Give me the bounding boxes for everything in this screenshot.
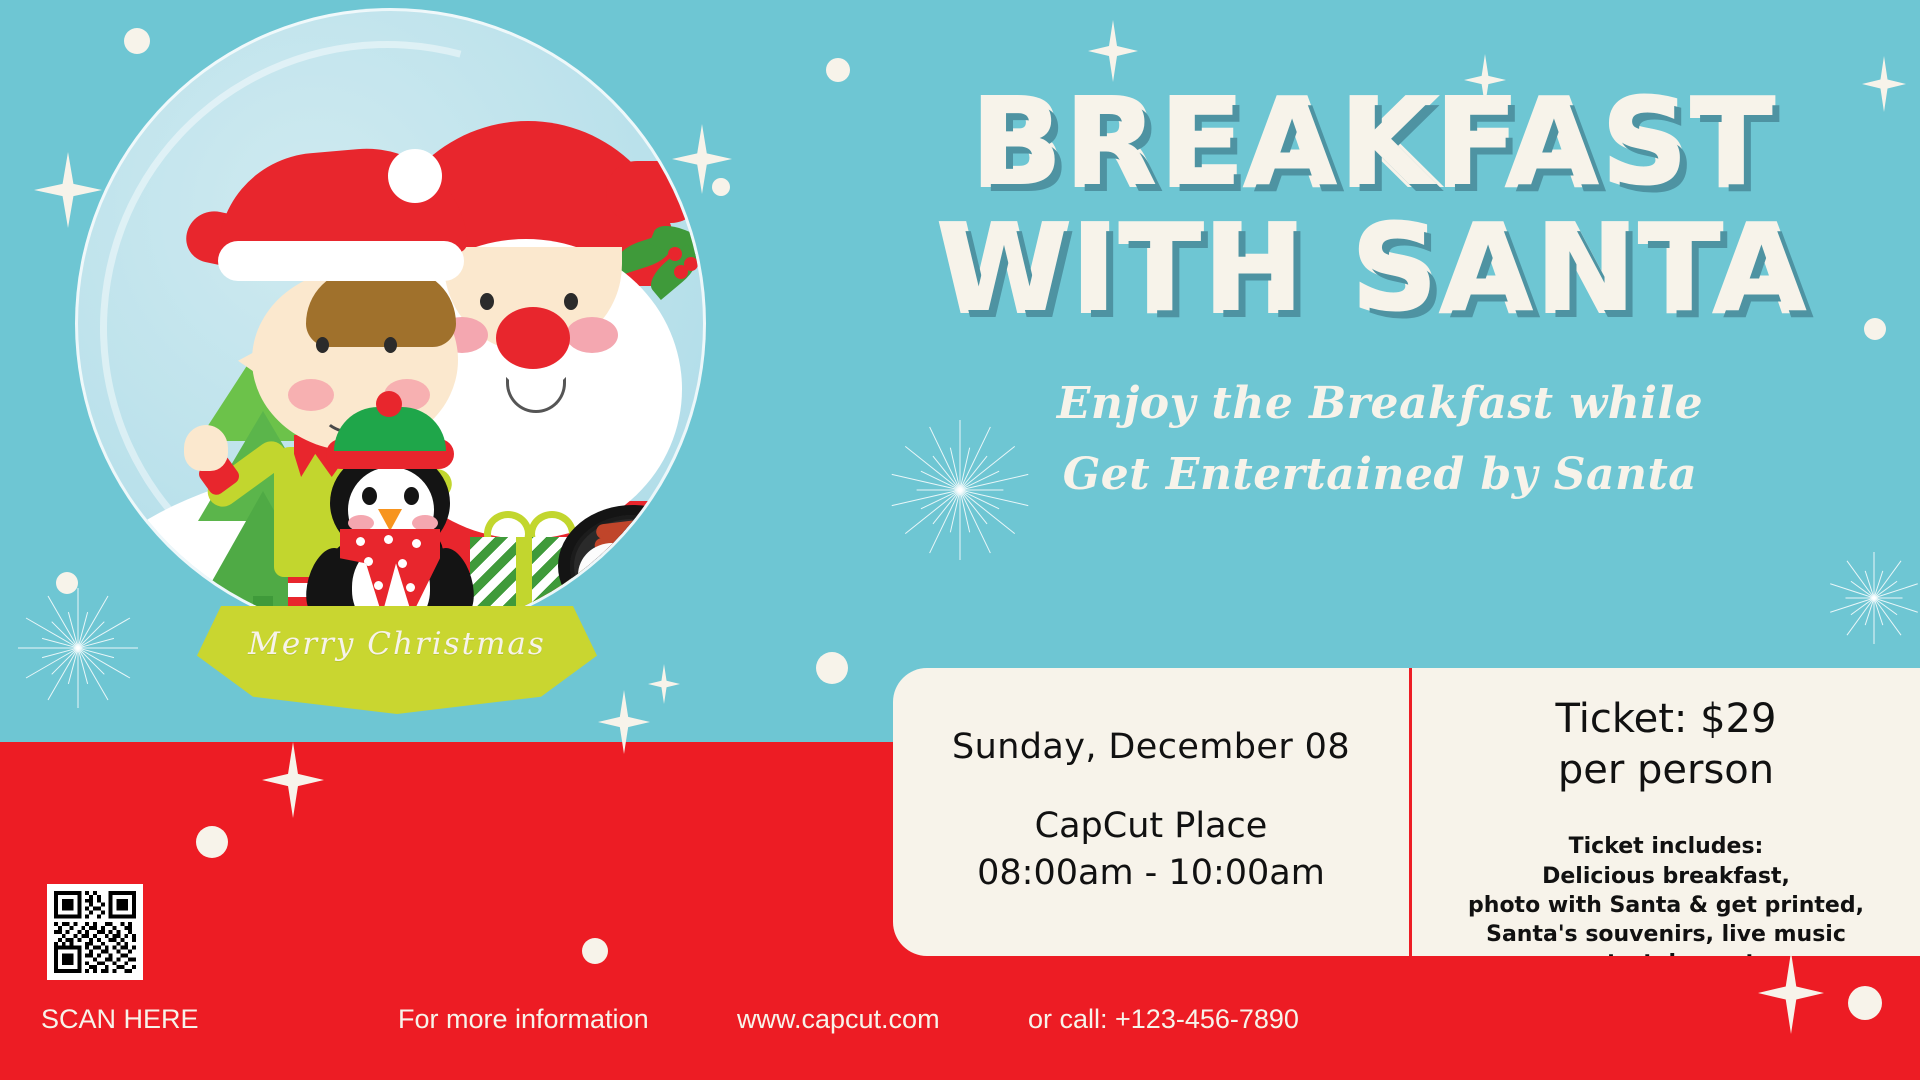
decor-dot	[826, 58, 850, 82]
event-details-card: Sunday, December 08 CapCut Place 08:00am…	[893, 668, 1409, 956]
decor-dot	[582, 938, 608, 964]
decor-dot	[196, 826, 228, 858]
phone-number[interactable]: or call: +123-456-7890	[1028, 1004, 1299, 1035]
includes-item: Santa's souvenirs, live music	[1468, 920, 1864, 949]
snow-globe-illustration: Merry Christmas	[75, 8, 715, 708]
includes-heading: Ticket includes:	[1468, 832, 1864, 861]
ticket-card: Ticket: $29 per person Ticket includes: …	[1412, 668, 1920, 956]
ticket-price: Ticket: $29 per person	[1556, 694, 1777, 796]
flyer-canvas: ❄ ❄ ❄	[0, 0, 1920, 1080]
includes-item: entertainment	[1468, 949, 1864, 956]
globe-base: Merry Christmas	[197, 606, 597, 714]
subtitle-line-1: Enjoy the Breakfast while	[850, 368, 1910, 439]
poster-subtitle: Enjoy the Breakfast while Get Entertaine…	[850, 368, 1910, 511]
info-cards-panel: Sunday, December 08 CapCut Place 08:00am…	[893, 668, 1920, 956]
breakfast-skillet-icon	[558, 499, 706, 639]
ticket-includes-list: Ticket includes: Delicious breakfast, ph…	[1468, 832, 1864, 956]
decor-dot	[816, 652, 848, 684]
globe-glass	[75, 8, 706, 639]
footer-bar: SCAN HERE For more information www.capcu…	[0, 1004, 1920, 1060]
event-venue: CapCut Place 08:00am - 10:00am	[977, 803, 1325, 898]
venue-name: CapCut Place	[1035, 806, 1268, 846]
event-date: Sunday, December 08	[952, 727, 1350, 767]
scan-here-label: SCAN HERE	[41, 1004, 199, 1035]
price-amount: Ticket: $29	[1556, 696, 1777, 742]
penguin-character	[300, 391, 480, 639]
qr-code-matrix	[54, 891, 136, 973]
price-unit: per person	[1558, 747, 1774, 793]
merry-christmas-label: Merry Christmas	[197, 626, 597, 662]
includes-item: Delicious breakfast,	[1468, 862, 1864, 891]
poster-title: BREAKFAST WITH SANTA	[845, 80, 1905, 333]
event-time: 08:00am - 10:00am	[977, 853, 1325, 893]
qr-code[interactable]	[47, 884, 143, 980]
more-information-label: For more information	[398, 1004, 649, 1035]
includes-item: photo with Santa & get printed,	[1468, 891, 1864, 920]
starburst-icon	[1828, 552, 1920, 644]
title-line-1: BREAKFAST	[973, 74, 1777, 212]
title-line-2: WITH SANTA	[845, 206, 1905, 332]
website-link[interactable]: www.capcut.com	[737, 1004, 940, 1035]
subtitle-line-2: Get Entertained by Santa	[850, 439, 1910, 510]
